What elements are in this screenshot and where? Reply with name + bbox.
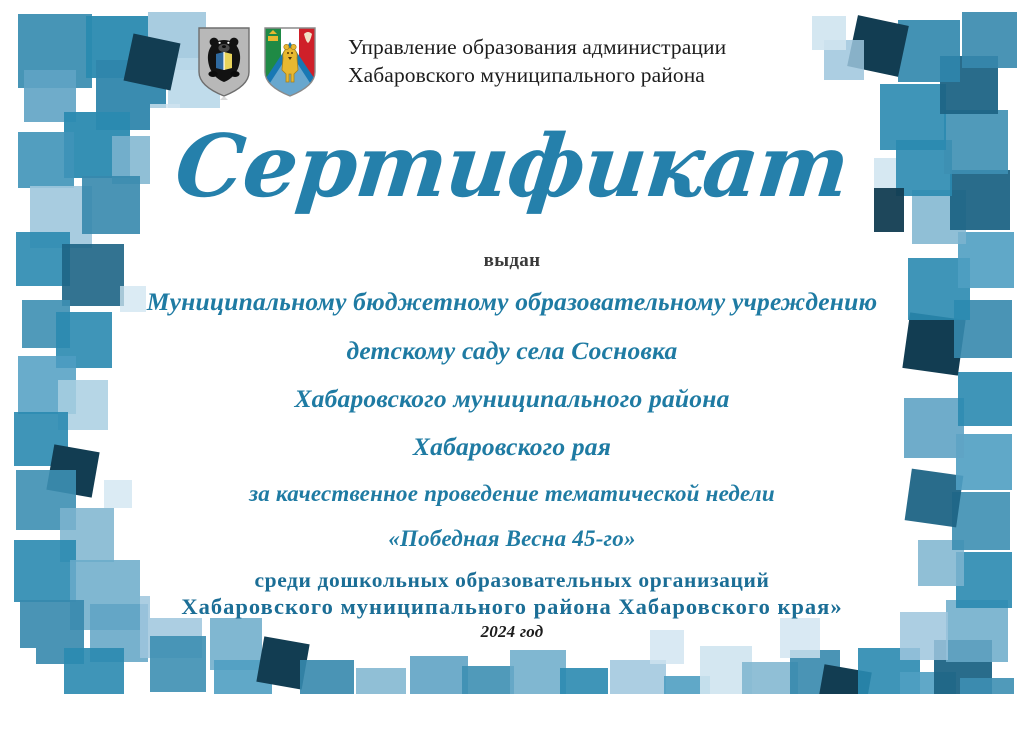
organization-name: Управление образования администрации Хаб… <box>348 26 726 90</box>
certificate-content: Управление образования администрации Хаб… <box>0 0 1024 742</box>
award-reason-line: за качественное проведение тематической … <box>0 481 1024 507</box>
recipient-line-1: Муниципальному бюджетному образовательно… <box>0 287 1024 317</box>
coat-of-arms-khabarovsk-district-icon <box>196 26 252 100</box>
scope-line-1: среди дошкольных образовательных организ… <box>0 568 1024 593</box>
year-label: 2024 год <box>0 622 1024 642</box>
certificate-page: Управление образования администрации Хаб… <box>0 0 1024 742</box>
recipient-line-3: Хабаровского муниципального района <box>0 384 1024 414</box>
event-title-line: «Победная Весна 45-го» <box>0 526 1024 552</box>
recipient-line-2: детскому саду села Сосновка <box>0 336 1024 366</box>
certificate-header: Управление образования администрации Хаб… <box>196 26 726 100</box>
page-title: Сертификат <box>0 124 1024 210</box>
scope-line-2: Хабаровского муниципального района Хабар… <box>0 594 1024 620</box>
recipient-line-4: Хабаровского рая <box>0 432 1024 462</box>
coat-of-arms-khabarovsk-krai-icon <box>262 26 318 100</box>
issued-label: выдан <box>0 250 1024 272</box>
